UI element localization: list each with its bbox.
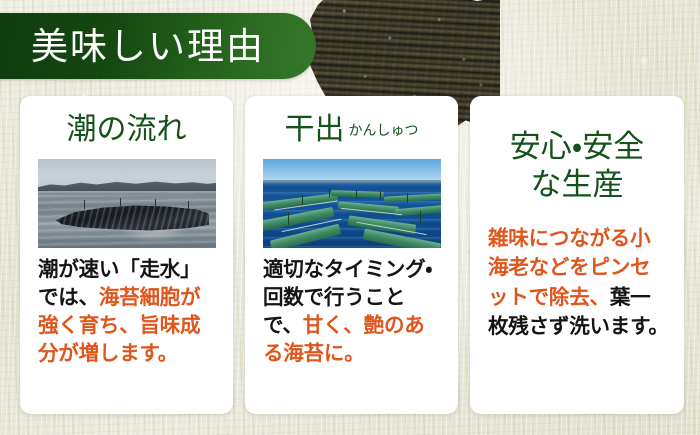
photo-1-pole [120, 198, 121, 209]
card-3-body: 雑味につながる小海老などをピンセットで除去、葉一枚残さず洗います。 [488, 224, 670, 341]
card-3-text-seg-1: 雑味につながる [488, 226, 630, 250]
card-1-text-seg-1: 潮が速い「走水」 [38, 257, 200, 281]
card-2-title: 干出かんしゅつ [245, 96, 458, 147]
card-1-photo [38, 159, 216, 248]
card-2-photo [263, 159, 441, 248]
photo-1-pole [188, 201, 189, 209]
photo-2-sky [263, 159, 441, 182]
photo-2-post [302, 195, 303, 206]
card-2-text-seg-1: 適切なタイミン [263, 257, 405, 281]
photo-2-post [356, 190, 357, 199]
reason-card-2: 干出かんしゅつ [245, 96, 458, 414]
reason-card-3: 安心・安全 な生産 雑味につながる小海老などをピンセットで除去、葉一枚残さず洗い… [470, 96, 684, 414]
photo-2-post [407, 193, 408, 203]
card-1-text-seg-2: では、 [38, 285, 99, 309]
photo-2-post [380, 191, 381, 200]
photo-1-pole [155, 199, 156, 209]
card-1-body: 潮が速い「走水」では、海苔細胞が強く育ち、旨味成分が増します。 [38, 256, 219, 368]
photo-2-post [329, 188, 330, 197]
card-2-title-main: 干出 [285, 112, 345, 147]
promo-panel: 美味しい理由 潮の流れ 潮が速い「走水」では、海苔細胞が強く育ち、旨味成分が増し… [0, 0, 700, 435]
card-2-title-furigana: かんしゅつ [349, 123, 419, 139]
header-banner: 美味しい理由 [0, 13, 316, 79]
reason-card-1: 潮の流れ 潮が速い「走水」では、海苔細胞が強く育ち、旨味成分が増します。 [20, 96, 233, 414]
photo-2-post [420, 211, 421, 223]
card-1-text-seg-3: 海苔細胞 [99, 285, 180, 309]
photo-2-post [288, 212, 289, 224]
banner-title: 美味しい理由 [0, 28, 265, 65]
card-2-text-seg-4: 甘く、艶の [303, 313, 405, 337]
card-3-title: 安心・安全 な生産 [470, 96, 684, 205]
photo-1-pole [84, 200, 85, 209]
card-3-text-seg-5: います。 [590, 314, 669, 338]
card-3-title-line-1: 安心・安全 [470, 129, 684, 167]
card-3-title-line-2: な生産 [470, 167, 684, 205]
card-1-title: 潮の流れ [20, 96, 233, 147]
card-2-body: 適切なタイミング・回数で行うことで、甘く、艶のある海苔に。 [263, 256, 444, 368]
